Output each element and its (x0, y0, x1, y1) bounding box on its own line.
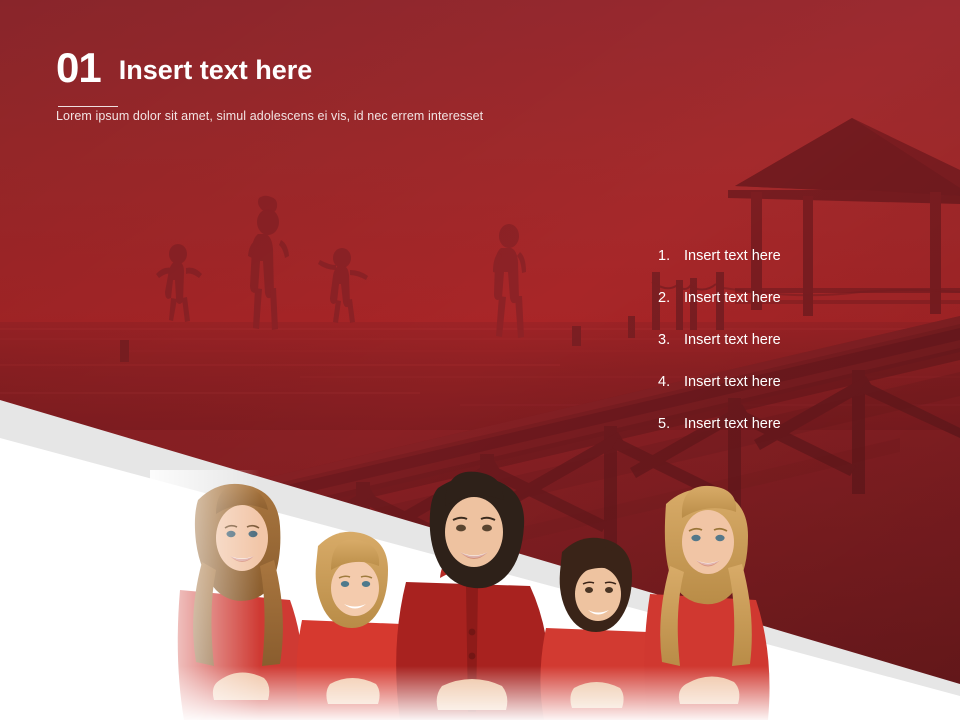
list-item[interactable]: 5. Insert text here (658, 416, 938, 458)
list-item-number: 5. (658, 416, 684, 432)
family-photo (150, 470, 770, 720)
presentation-slide: 01 Insert text here Lorem ipsum dolor si… (0, 0, 960, 720)
list-item[interactable]: 3. Insert text here (658, 332, 938, 374)
list-item[interactable]: 4. Insert text here (658, 374, 938, 416)
list-item[interactable]: 1. Insert text here (658, 248, 938, 290)
page-subtitle: Lorem ipsum dolor sit amet, simul adoles… (56, 108, 676, 124)
list-item-label: Insert text here (684, 248, 938, 264)
title-row: 01 Insert text here (56, 48, 676, 90)
step-number: 01 (56, 48, 101, 90)
list-item-number: 2. (658, 290, 684, 306)
list-item[interactable]: 2. Insert text here (658, 290, 938, 332)
page-title: Insert text here (119, 56, 313, 90)
list-item-number: 3. (658, 332, 684, 348)
header-block: 01 Insert text here Lorem ipsum dolor si… (56, 48, 676, 124)
list-item-label: Insert text here (684, 374, 938, 390)
family-portrait-svg (150, 470, 770, 720)
photo-bottom-fade (150, 666, 770, 720)
list-item-number: 1. (658, 248, 684, 264)
list-item-label: Insert text here (684, 332, 938, 348)
step-number-underline (58, 106, 118, 107)
list-item-number: 4. (658, 374, 684, 390)
list-item-label: Insert text here (684, 416, 938, 432)
list-item-label: Insert text here (684, 290, 938, 306)
numbered-list: 1. Insert text here 2. Insert text here … (658, 248, 938, 458)
